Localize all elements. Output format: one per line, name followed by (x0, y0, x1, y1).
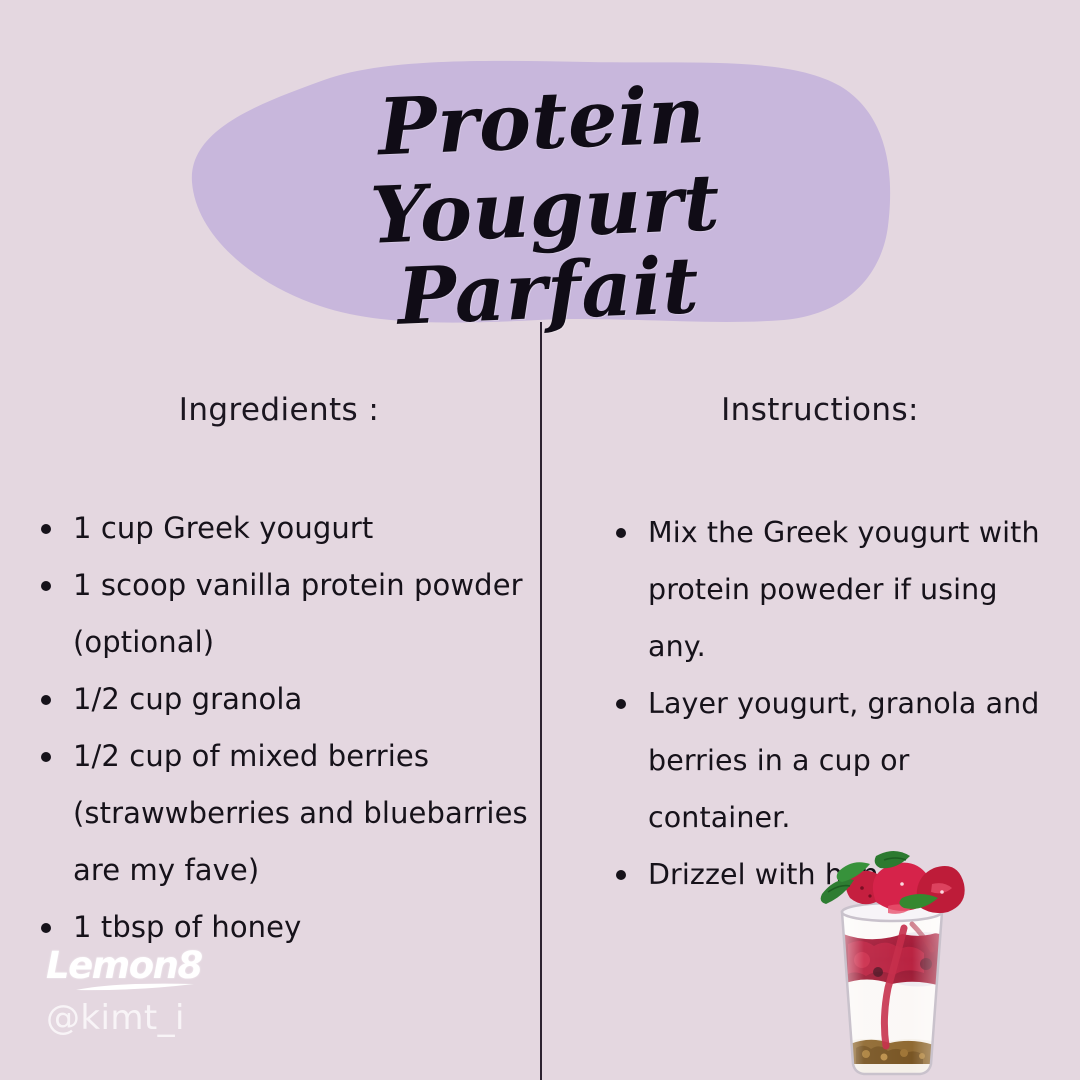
list-item: 1/2 cup of mixed berries (strawwberries … (35, 728, 534, 899)
ingredients-column: Ingredients : 1 cup Greek yougurt 1 scoo… (18, 392, 534, 956)
ingredients-heading: Ingredients : (18, 392, 534, 428)
author-handle: @kimt_i (46, 998, 185, 1038)
ingredients-list: 1 cup Greek yougurt 1 scoop vanilla prot… (18, 500, 534, 956)
parfait-glass-image (792, 832, 992, 1080)
list-item: Layer yougurt, granola and berries in a … (610, 675, 1060, 846)
strawberry-cluster (821, 851, 965, 914)
lemon8-wordmark: Lemon8 (46, 946, 246, 986)
page-title: Protein Yougurt Parfait (195, 65, 894, 350)
lemon8-underline-swoosh (74, 982, 196, 992)
lemon8-watermark: Lemon8 (46, 946, 246, 1002)
list-item: 1 scoop vanilla protein powder (optional… (35, 557, 534, 671)
list-item: Mix the Greek yougurt with protein powed… (610, 504, 1060, 675)
instructions-heading: Instructions: (578, 392, 1060, 428)
instructions-column: Instructions: Mix the Greek yougurt with… (578, 392, 1060, 903)
list-item: 1/2 cup granola (35, 671, 534, 728)
recipe-card: Protein Yougurt Parfait Ingredients : 1 … (0, 0, 1080, 1080)
column-divider (540, 322, 542, 1080)
list-item: 1 cup Greek yougurt (35, 500, 534, 557)
title-line-1: Protein Yougurt (195, 65, 891, 268)
